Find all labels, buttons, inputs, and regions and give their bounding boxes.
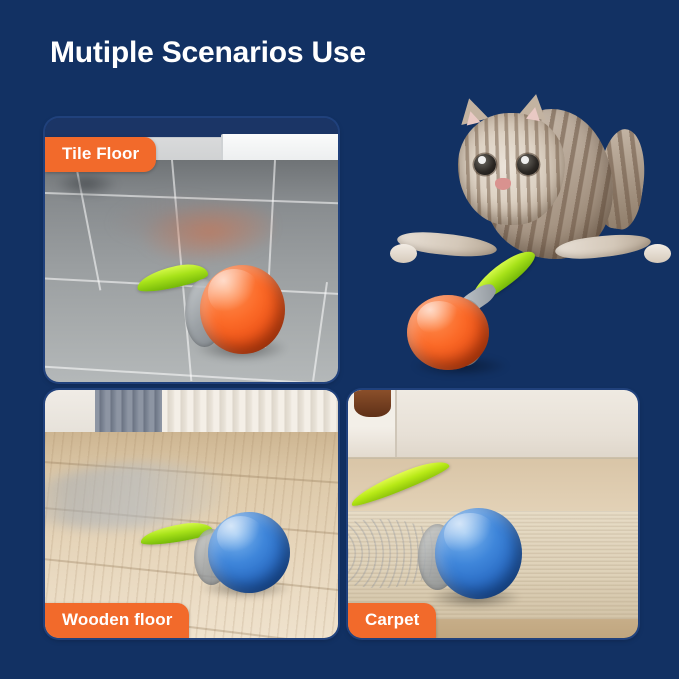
kitten-eye-glint-right (521, 156, 529, 164)
ball-highlight (417, 301, 462, 336)
kitten-paw-right (644, 244, 671, 263)
scenario-card-wooden-floor[interactable]: Wooden floor (45, 390, 338, 638)
scenario-card-carpet[interactable]: Carpet (348, 390, 638, 638)
cat-ball-toy (180, 250, 309, 371)
hero-product-ball (407, 271, 531, 379)
kitten-ear-inner-right (526, 106, 542, 121)
marketing-banner: Mutiple Scenarios Use (0, 0, 679, 679)
grout-line (312, 282, 327, 381)
ball-highlight (208, 269, 260, 315)
ball-highlight (444, 513, 495, 556)
cat-ball-toy (418, 499, 540, 613)
hero-illustration (383, 85, 679, 385)
kitten-paw-left (390, 244, 417, 263)
ball-highlight (217, 516, 264, 556)
kitten-nose (495, 178, 510, 190)
page-title: Mutiple Scenarios Use (50, 36, 366, 69)
carpet-plant-pot (354, 390, 392, 417)
badge-carpet: Carpet (348, 603, 436, 638)
curtain-dark (95, 390, 171, 432)
scene-carpet (348, 390, 638, 638)
scenario-card-tile-floor[interactable]: Tile Floor (45, 118, 338, 382)
kitten-eye-glint-left (478, 156, 486, 164)
badge-tile-floor: Tile Floor (45, 137, 156, 172)
floor-shadow (54, 171, 118, 197)
badge-wooden-floor: Wooden floor (45, 603, 189, 638)
cat-ball-toy (192, 502, 309, 606)
scene-wooden-floor (45, 390, 338, 638)
